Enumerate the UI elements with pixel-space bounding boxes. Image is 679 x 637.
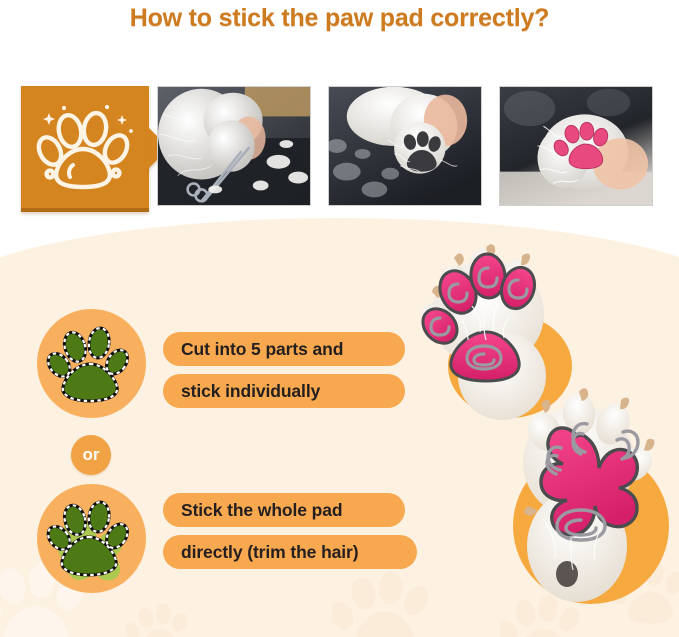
option-whole-pad-icon-circle [37,484,146,593]
instruction-pill-cut-line1: Cut into 5 parts and [163,332,405,366]
paw-cut-5-parts-icon [46,318,138,410]
paw-whole-pad-icon [46,493,138,585]
watermark-paw-icon [126,600,196,637]
instruction-pill-cut-line2: stick individually [163,374,405,408]
infographic-stage: How to stick the paw pad correctly? [0,0,679,637]
result-paw-whole-pad [505,378,679,608]
paw-outline-icon [29,97,141,197]
photo-clean-paw [328,86,482,206]
photo-pad-applied [499,86,653,206]
paw-dewclaw-pad [556,561,578,587]
page-title: How to stick the paw pad correctly? [0,4,679,33]
photo-trim-hair [157,86,311,206]
instruction-pill-whole-line1: Stick the whole pad [163,493,405,527]
option-cut-into-parts-icon-circle [37,309,146,418]
watermark-paw-icon [332,566,442,637]
or-separator-badge: or [71,435,111,475]
header-photo-strip [0,86,679,210]
instruction-pill-whole-line2: directly (trim the hair) [163,535,417,569]
paw-pad-brand-badge [21,86,149,212]
